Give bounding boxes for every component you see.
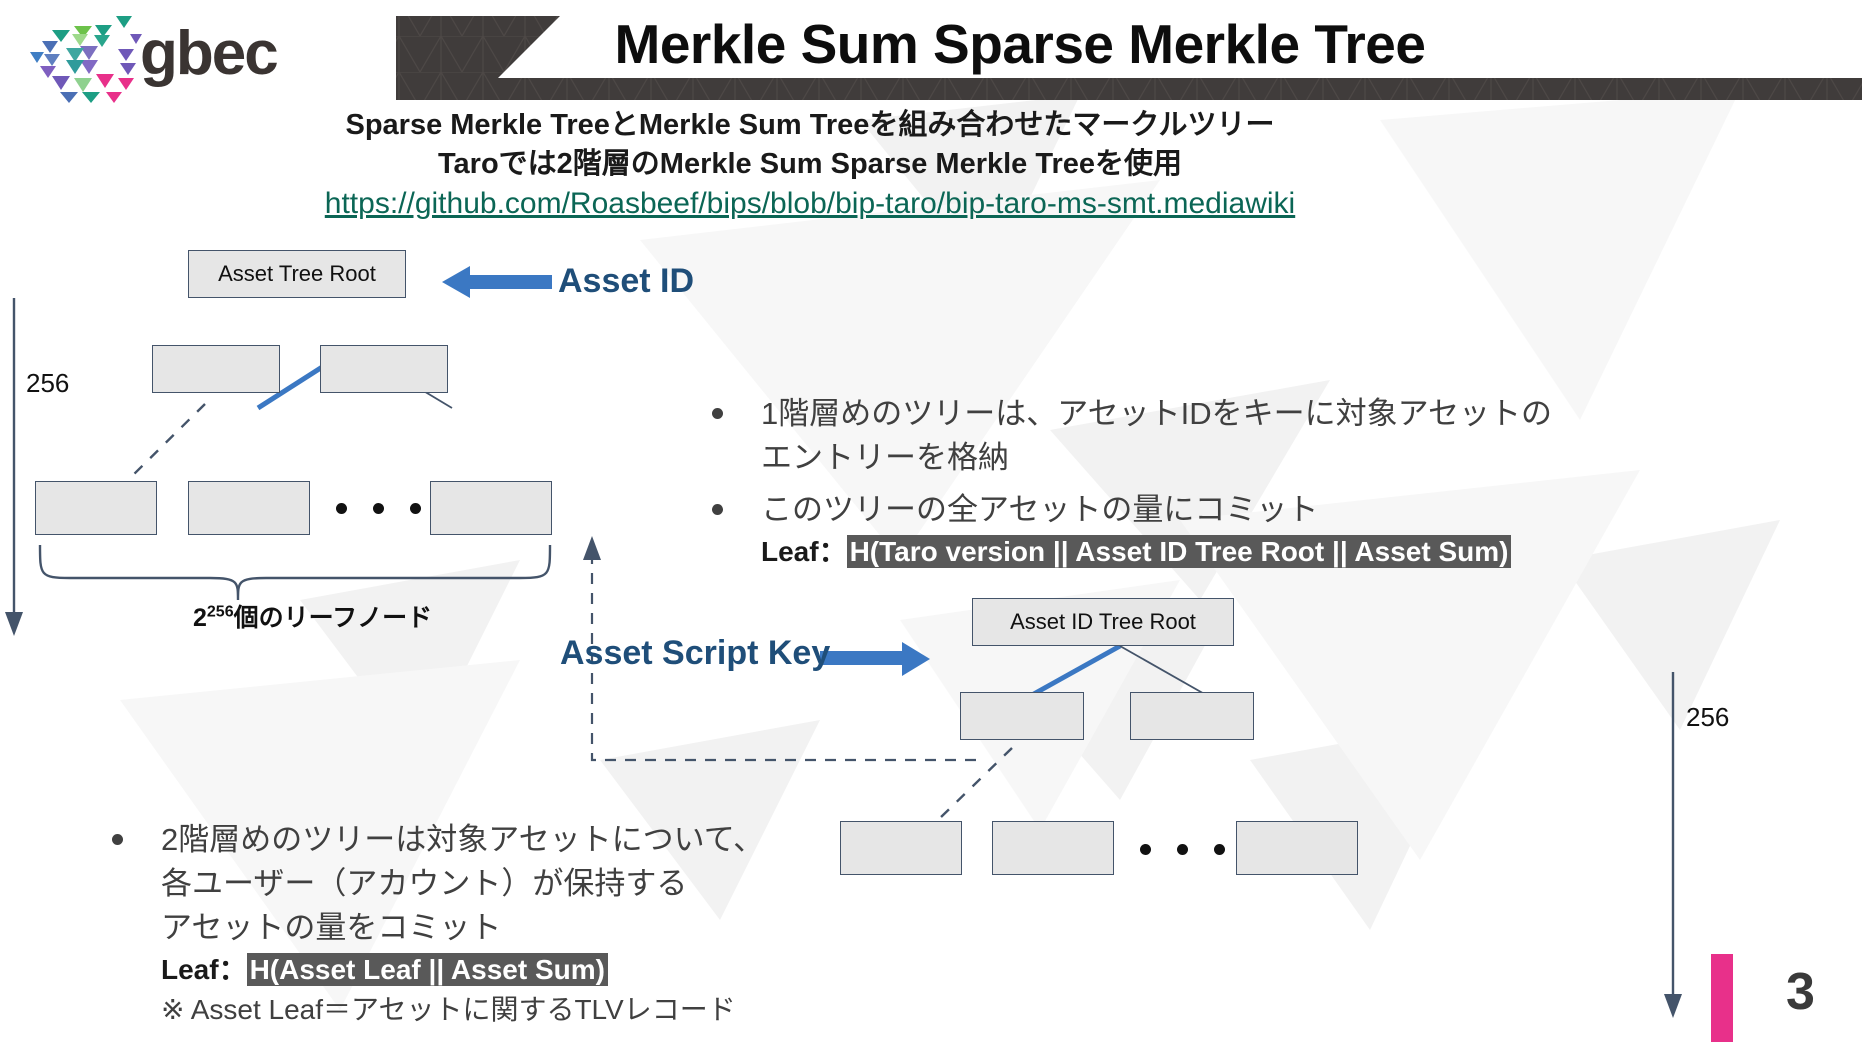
bullet-lower-leaf-line: Leaf：H(Asset Leaf || Asset Sum) xyxy=(161,950,764,990)
leafcount-suffix: 個のリーフノード xyxy=(234,604,433,632)
bullet-dot-icon xyxy=(712,408,723,419)
leafcount-exponent: 256 xyxy=(207,604,234,621)
top-tree-leafcount-label: 2256個のリーフノード xyxy=(193,598,432,634)
bottom-tree-depth-label: 256 xyxy=(1686,702,1729,733)
bullet-group-right: 1階層めのツリーは、アセットIDをキーに対象アセットの エントリーを格納 このツ… xyxy=(712,392,1842,572)
top-tree-child-left[interactable] xyxy=(152,345,280,393)
bullet-lower-line-1: 2階層めのツリーは対象アセットについて、 xyxy=(161,818,764,862)
slide-canvas: gbec Merkle Sum Sparse Merkle Tree Spars… xyxy=(0,0,1862,1044)
bullet-item-lower-1: 2階層めのツリーは対象アセットについて、 各ユーザー（アカウント）が保持する ア… xyxy=(112,818,942,1030)
bullet-lower-line-2: 各ユーザー（アカウント）が保持する xyxy=(161,862,764,906)
bullet-item-lower-1-body: 2階層めのツリーは対象アセットについて、 各ユーザー（アカウント）が保持する ア… xyxy=(161,818,764,1030)
top-tree-leaf-n[interactable] xyxy=(430,481,552,535)
bullet-lower-note: ※ Asset Leaf＝アセットに関するTLVレコード xyxy=(161,990,764,1030)
reference-link[interactable]: https://github.com/Roasbeef/bips/blob/bi… xyxy=(325,187,1295,220)
bullet-1-line-2: エントリーを格納 xyxy=(761,436,1552,480)
brand-logo: gbec xyxy=(22,8,312,103)
top-tree-leaf-2[interactable] xyxy=(188,481,310,535)
asset-id-arrow-icon xyxy=(442,258,552,306)
bullet-item-1-body: 1階層めのツリーは、アセットIDをキーに対象アセットの エントリーを格納 xyxy=(761,392,1552,480)
gbec-cube-logo-icon xyxy=(22,8,142,103)
subtitle-block: Sparse Merkle TreeとMerkle Sum Treeを組み合わせ… xyxy=(0,106,1620,224)
subtitle-line-1: Sparse Merkle TreeとMerkle Sum Treeを組み合わせ… xyxy=(0,106,1620,145)
svg-text:gbec: gbec xyxy=(140,22,277,88)
bullet-lower-line-3: アセットの量をコミット xyxy=(161,906,764,950)
page-accent-bar xyxy=(1711,954,1733,1042)
bullet-2-leaf-line: Leaf：H(Taro version || Asset ID Tree Roo… xyxy=(761,532,1511,572)
bullet-1-line-1: 1階層めのツリーは、アセットIDをキーに対象アセットの xyxy=(761,392,1552,436)
top-tree-depth-label: 256 xyxy=(26,368,69,399)
top-tree-child-right[interactable] xyxy=(320,345,448,393)
bottom-tree-child-left[interactable] xyxy=(960,692,1084,740)
page-number: 3 xyxy=(1786,962,1815,1022)
bottom-tree-ellipsis xyxy=(1140,844,1225,855)
asset-script-key-arrow-icon xyxy=(820,636,930,682)
asset-tree-root-node[interactable]: Asset Tree Root xyxy=(188,250,406,298)
leaf-prefix: Leaf： xyxy=(761,536,847,567)
top-tree-leaf-1[interactable] xyxy=(35,481,157,535)
leaf-prefix: Leaf： xyxy=(161,954,247,985)
bullet-dot-icon xyxy=(112,834,123,845)
bullet-group-left: 2階層めのツリーは対象アセットについて、 各ユーザー（アカウント）が保持する ア… xyxy=(112,818,942,1030)
page-title: Merkle Sum Sparse Merkle Tree xyxy=(470,16,1570,74)
bullet-item-2: このツリーの全アセットの量にコミット Leaf：H(Taro version |… xyxy=(712,488,1842,572)
asset-id-tree-root-node[interactable]: Asset ID Tree Root xyxy=(972,598,1234,646)
asset-script-key-label: Asset Script Key xyxy=(560,634,830,673)
bullet-2-line-1: このツリーの全アセットの量にコミット xyxy=(761,488,1511,532)
bullet-item-2-body: このツリーの全アセットの量にコミット Leaf：H(Taro version |… xyxy=(761,488,1511,572)
subtitle-line-2: Taroでは2階層のMerkle Sum Sparse Merkle Treeを… xyxy=(0,145,1620,184)
leafcount-base: 2 xyxy=(193,604,207,632)
gbec-wordmark-icon: gbec xyxy=(140,22,320,92)
top-tree-ellipsis xyxy=(336,503,421,514)
asset-id-label: Asset ID xyxy=(558,262,694,301)
bottom-tree-leaf-2[interactable] xyxy=(992,821,1114,875)
leaf-hash-highlight: H(Taro version || Asset ID Tree Root || … xyxy=(847,535,1512,568)
bullet-dot-icon xyxy=(712,504,723,515)
bottom-tree-leaf-n[interactable] xyxy=(1236,821,1358,875)
bottom-tree-child-right[interactable] xyxy=(1130,692,1254,740)
leaf-hash-highlight: H(Asset Leaf || Asset Sum) xyxy=(247,953,608,986)
bullet-item-1: 1階層めのツリーは、アセットIDをキーに対象アセットの エントリーを格納 xyxy=(712,392,1842,480)
